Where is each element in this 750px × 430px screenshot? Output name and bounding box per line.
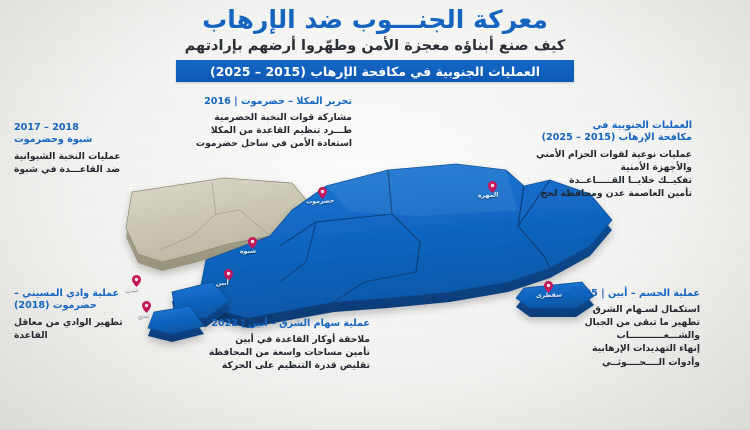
callout-mukalla-body: مشاركة قوات النخبة الحضرمية طـــرد تنظيم… xyxy=(228,111,352,150)
callout-shabwa-hadramout-line-1: عمليات النخبة الشبوانية xyxy=(14,150,186,163)
callout-wadi-musaini-line-1: تطهير الوادي من معاقل xyxy=(14,316,166,329)
map-label-shabwa: شبوة xyxy=(240,248,257,256)
infographic-canvas: معركة الجنـــوب ضد الإرهاب كيف صنع أبناؤ… xyxy=(0,0,750,430)
callout-shabwa-hadramout-body: عمليات النخبة الشبوانية ضد القاعـــدة في… xyxy=(14,150,186,176)
callout-southern-ops-title-1: العمليات الجنوبية في xyxy=(520,120,692,132)
callout-siham-sharq-line-3: تقليص قدرة التنظيم على الحركة xyxy=(208,359,370,372)
callout-al-hasm: عملية الحسم – أبين | 2025 استكمال لسـهام… xyxy=(548,288,700,369)
callout-southern-ops-title-2: مكافحة الإرهاب (2015 – 2025) xyxy=(520,132,692,144)
callout-mukalla-line-1: مشاركة قوات النخبة الحضرمية xyxy=(228,111,352,124)
map-pin-al-mahra[interactable] xyxy=(488,178,497,190)
callout-southern-ops: العمليات الجنوبية في مكافحة الإرهاب (201… xyxy=(520,120,692,200)
callout-mukalla-line-2: طـــرد تنظيم القاعدة من المكلا xyxy=(228,124,352,137)
callout-siham-sharq-line-2: تأمين مساحات واسعة من المحافظة xyxy=(208,346,370,359)
map-pin-hadramout[interactable] xyxy=(318,184,327,196)
map-label-al-mahra: المهرة xyxy=(478,192,499,200)
callout-siham-sharq: عملية سهام الشرق – أبين | 2022 ملاحقة أو… xyxy=(208,318,370,372)
callout-mukalla-line-3: استعادة الأمن في ساحل حضرموت xyxy=(228,137,352,150)
callout-southern-ops-line-1: عمليات نوعية لقوات الحزام الأمني xyxy=(520,148,692,161)
callout-al-hasm-line-1: استكمال لسـهام الشرق xyxy=(548,303,700,316)
page-title: معركة الجنـــوب ضد الإرهاب xyxy=(0,6,750,34)
map-pin-shabwa[interactable] xyxy=(248,234,257,246)
callout-mukalla: تحرير المكلا – حضرموت | 2016 مشاركة قوات… xyxy=(228,96,352,150)
page-subtitle: كيف صنع أبناؤه معجزة الأمن وطهّروا أرضهم… xyxy=(0,38,750,55)
map-label-abyan: أبين xyxy=(216,280,229,287)
callout-wadi-musaini-title-2: حضرموت (2018) xyxy=(14,300,166,312)
callout-southern-ops-line-4: تأمين العاصمة عدن ومحافظة لحج xyxy=(520,187,692,200)
callout-mukalla-title: تحرير المكلا – حضرموت | 2016 xyxy=(228,96,352,108)
callout-al-hasm-line-5: وأدوات الــــحــــوثــي xyxy=(548,356,700,369)
map-pin-abyan[interactable] xyxy=(224,266,233,278)
callout-al-hasm-line-3: والشـــعـــــــــــاب xyxy=(548,329,700,342)
callout-siham-sharq-body: ملاحقة أوكار القاعدة في أبين تأمين مساحا… xyxy=(208,333,370,372)
callout-shabwa-hadramout-title-1: 2018 – 2017 xyxy=(14,122,186,134)
callout-shabwa-hadramout-title-2: شبوة وحضرموت xyxy=(14,134,186,146)
callout-al-hasm-line-2: تطهير ما تبقى من الجبال xyxy=(548,316,700,329)
callout-wadi-musaini-body: تطهير الوادي من معاقل القاعدة xyxy=(14,316,166,342)
header: معركة الجنـــوب ضد الإرهاب كيف صنع أبناؤ… xyxy=(0,6,750,82)
map-pin-aden[interactable] xyxy=(132,272,141,284)
callout-siham-sharq-line-1: ملاحقة أوكار القاعدة في أبين xyxy=(208,333,370,346)
callout-southern-ops-line-2: والأجهزة الأمنية xyxy=(520,161,692,174)
section-banner: العمليات الجنوبية في مكافحة الإرهاب (201… xyxy=(176,60,574,82)
map-label-hadramout: حضرموت xyxy=(306,198,335,206)
callout-al-hasm-body: استكمال لسـهام الشرق تطهير ما تبقى من ال… xyxy=(548,303,700,368)
callout-southern-ops-line-3: تفكيــك خلايــا القـــــاعــدة xyxy=(520,174,692,187)
callout-wadi-musaini-title-1: عملية وادي المسيني – xyxy=(14,288,166,300)
callout-shabwa-hadramout-line-2: ضد القاعـــدة في شبوة xyxy=(14,163,186,176)
callout-shabwa-hadramout: 2018 – 2017 شبوة وحضرموت عمليات النخبة ا… xyxy=(14,122,186,176)
callout-wadi-musaini: عملية وادي المسيني – حضرموت (2018) تطهير… xyxy=(14,288,166,342)
callout-al-hasm-title: عملية الحسم – أبين | 2025 xyxy=(548,288,700,300)
callout-wadi-musaini-line-2: القاعدة xyxy=(14,329,166,342)
callout-al-hasm-line-4: إنهاء التهديدات الإرهابية xyxy=(548,342,700,355)
callout-southern-ops-body: عمليات نوعية لقوات الحزام الأمني والأجهز… xyxy=(520,148,692,200)
callout-siham-sharq-title: عملية سهام الشرق – أبين | 2022 xyxy=(208,318,370,330)
